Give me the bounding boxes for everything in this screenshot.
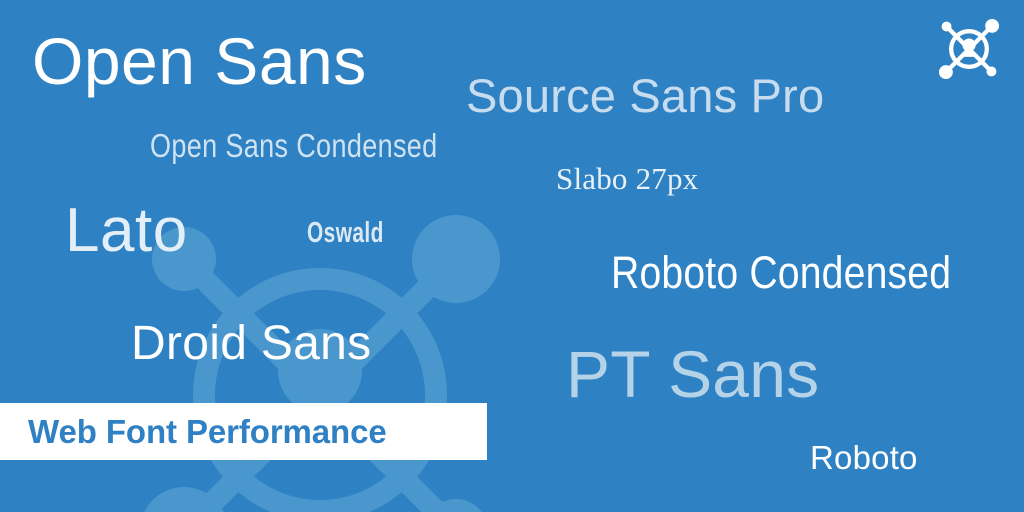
- font-sample-roboto-condensed: Roboto Condensed: [611, 250, 951, 295]
- font-sample-source-sans-pro: Source Sans Pro: [466, 72, 824, 119]
- poster-canvas: Open Sans Open Sans Condensed Source San…: [0, 0, 1024, 512]
- title-banner: Web Font Performance: [0, 403, 487, 460]
- page-title: Web Font Performance: [28, 413, 387, 451]
- font-sample-slabo-27px: Slabo 27px: [556, 163, 698, 194]
- font-sample-droid-sans: Droid Sans: [131, 320, 371, 368]
- font-sample-open-sans: Open Sans: [32, 28, 367, 94]
- font-sample-oswald: Oswald: [307, 219, 384, 248]
- font-sample-pt-sans: PT Sans: [566, 341, 819, 407]
- keyhole-network-logo-icon: [936, 16, 1002, 82]
- font-sample-roboto: Roboto: [810, 441, 918, 474]
- font-sample-lato: Lato: [65, 200, 188, 262]
- font-sample-open-sans-condensed: Open Sans Condensed: [150, 129, 438, 162]
